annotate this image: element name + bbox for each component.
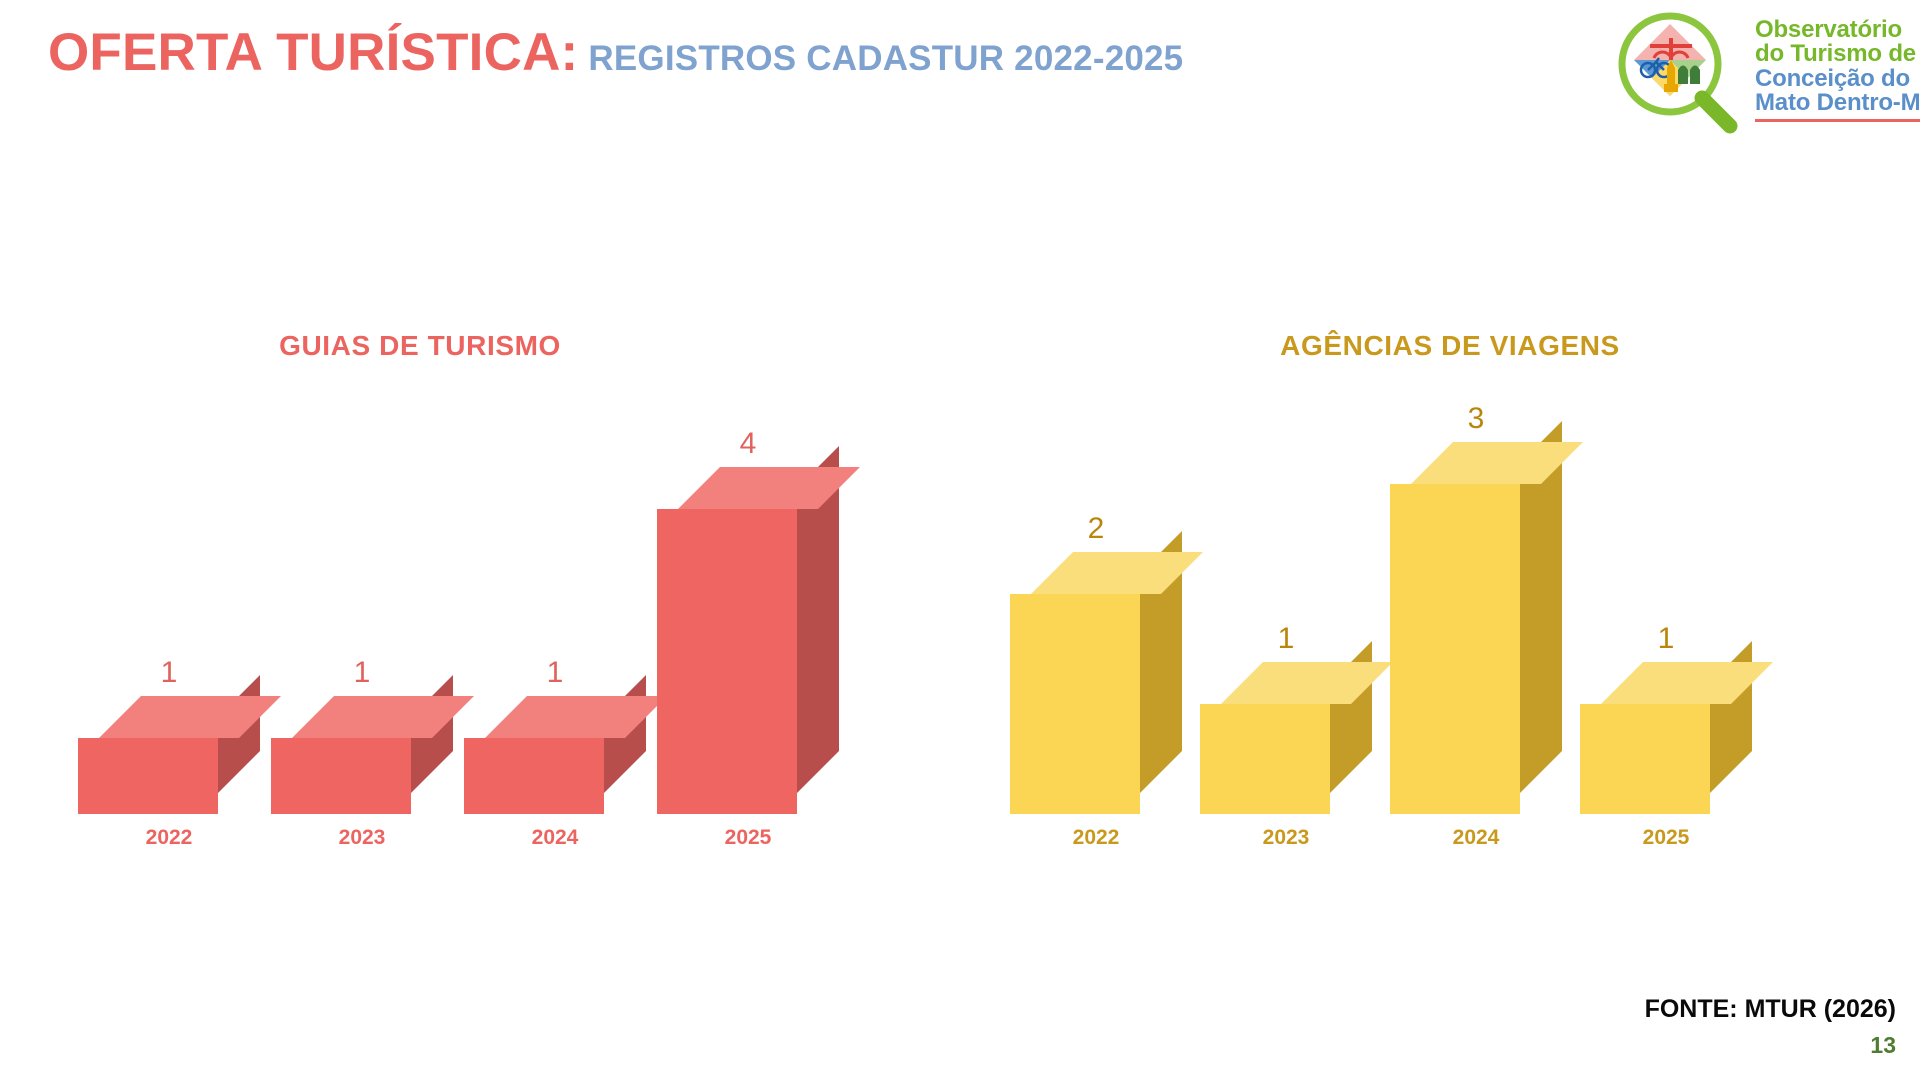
bar-category-label-2022: 2022 — [78, 826, 260, 850]
bar-value-label: 1 — [1221, 622, 1351, 656]
logo-line-4: Mato Dentro-MG — [1755, 91, 1920, 115]
bar-value-label: 1 — [485, 656, 625, 690]
bar-group: 12022 — [78, 704, 260, 850]
bar-category-label-2023: 2023 — [1200, 826, 1372, 850]
chart-guias-de-turismo: GUIAS DE TURISMO 12022120231202442025 — [40, 330, 880, 900]
bar-3d-2023[interactable] — [1200, 704, 1330, 814]
bar-category-label-2025: 2025 — [657, 826, 839, 850]
bar-3d-2024[interactable] — [1390, 484, 1520, 814]
bar-value-label: 2 — [1031, 512, 1161, 546]
plot-area-guias: 12022120231202442025 — [40, 370, 880, 850]
bar-3d-2024[interactable] — [464, 738, 604, 814]
plot-area-agencias: 22022120233202412025 — [980, 370, 1860, 850]
bar-value-label: 1 — [99, 656, 239, 690]
chart-title-guias: GUIAS DE TURISMO — [0, 330, 840, 362]
bar-face-front — [1390, 484, 1520, 814]
bar-value-label: 1 — [1601, 622, 1731, 656]
bar-3d-2022[interactable] — [1010, 594, 1140, 814]
bar-group: 12025 — [1580, 670, 1752, 850]
bar-category-label-2023: 2023 — [271, 826, 453, 850]
observatorio-logo: Observatório do Turismo de Conceição do … — [1610, 8, 1910, 140]
bar-value-label: 4 — [678, 427, 818, 461]
page-number: 13 — [1870, 1032, 1896, 1059]
bar-category-label-2022: 2022 — [1010, 826, 1182, 850]
magnifier-logo-icon — [1610, 8, 1745, 140]
logo-line-3: Conceição do — [1755, 67, 1920, 91]
bar-group: 22022 — [1010, 560, 1182, 850]
bar-face-front — [1580, 704, 1710, 814]
bar-group: 42025 — [657, 475, 839, 850]
page-title-main: OFERTA TURÍSTICA: — [48, 23, 578, 82]
bar-face-front — [1010, 594, 1140, 814]
logo-line-1: Observatório — [1755, 18, 1920, 42]
source-note: FONTE: MTUR (2026) — [1645, 995, 1896, 1024]
bar-3d-2025[interactable] — [1580, 704, 1710, 814]
slide-header: OFERTA TURÍSTICA:REGISTROS CADASTUR 2022… — [0, 0, 1920, 160]
bar-group: 32024 — [1390, 450, 1562, 850]
bar-face-front — [464, 738, 604, 814]
bar-category-label-2024: 2024 — [1390, 826, 1562, 850]
bar-3d-2022[interactable] — [78, 738, 218, 814]
bar-group: 12023 — [1200, 670, 1372, 850]
logo-wordmark: Observatório do Turismo de Conceição do … — [1755, 18, 1920, 122]
bar-face-front — [271, 738, 411, 814]
bar-category-label-2024: 2024 — [464, 826, 646, 850]
bar-group: 12024 — [464, 704, 646, 850]
bar-category-label-2025: 2025 — [1580, 826, 1752, 850]
bar-3d-2025[interactable] — [657, 509, 797, 814]
bar-group: 12023 — [271, 704, 453, 850]
page-title-subtitle: REGISTROS CADASTUR 2022-2025 — [588, 39, 1183, 78]
bar-3d-2023[interactable] — [271, 738, 411, 814]
chart-agencias-de-viagens: AGÊNCIAS DE VIAGENS 22022120233202412025 — [980, 330, 1860, 900]
page-title: OFERTA TURÍSTICA:REGISTROS CADASTUR 2022… — [48, 22, 1183, 83]
chart-title-agencias: AGÊNCIAS DE VIAGENS — [1010, 330, 1890, 362]
bar-value-label: 3 — [1411, 402, 1541, 436]
bar-value-label: 1 — [292, 656, 432, 690]
bar-face-front — [657, 509, 797, 814]
bar-face-front — [1200, 704, 1330, 814]
logo-underline-rule — [1755, 119, 1920, 122]
bar-face-front — [78, 738, 218, 814]
logo-line-2: do Turismo de — [1755, 42, 1920, 66]
